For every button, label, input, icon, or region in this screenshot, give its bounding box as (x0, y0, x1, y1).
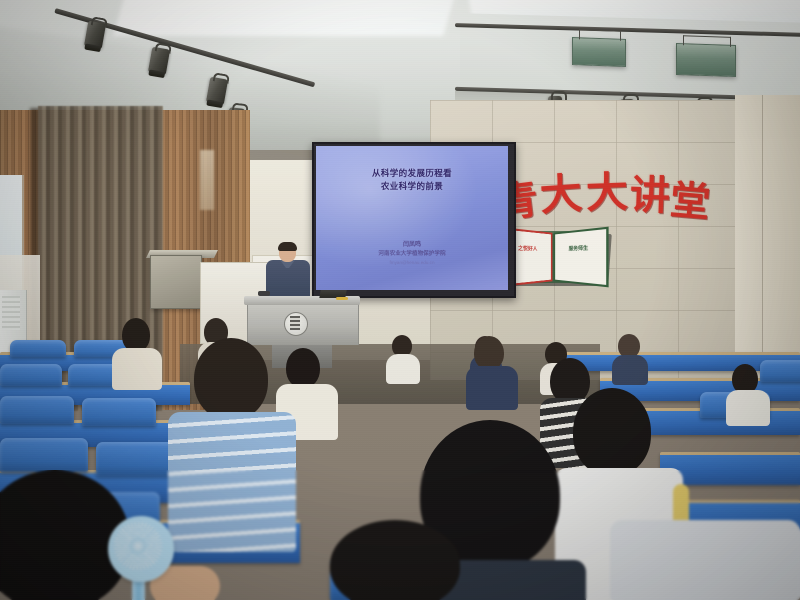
banner-char-4: 讲 (629, 175, 670, 216)
person-head (330, 520, 460, 600)
portable-fan[interactable] (108, 516, 168, 600)
book-right-text: 服务师生 (555, 245, 606, 253)
person-torso (612, 355, 648, 385)
marker-pen (336, 297, 348, 300)
wall-speaker (150, 255, 202, 309)
fan-hub (130, 538, 146, 554)
seat-back (0, 396, 74, 424)
air-conditioner-vent (2, 296, 20, 330)
person-torso (386, 354, 420, 384)
seat-back (82, 398, 156, 426)
slide-presenter-affiliation: 河南农业大学植物保护学院 (318, 250, 506, 259)
banner-char-3: 大 (585, 171, 628, 214)
slide-title-line-2: 农业科学的前景 (318, 181, 506, 194)
person-torso (168, 412, 296, 552)
lecture-hall-photo: 青 大 大 讲 堂 之悦好人 服务师生 从科学的发展历程看 农业科学的前景 闫凤… (0, 0, 800, 600)
wall-column-seam (762, 95, 763, 385)
presenter-hair (278, 242, 297, 251)
hanging-light-fixture (572, 37, 626, 67)
banner-char-2: 大 (539, 173, 584, 218)
seat-back (760, 360, 800, 382)
person-torso (726, 390, 770, 426)
seat-back (10, 340, 66, 357)
lectern-crest-inner (290, 316, 300, 330)
hanging-light-fixture (676, 43, 736, 77)
slide-title-line-1: 从科学的发展历程看 (318, 168, 506, 181)
open-book-emblem: 之悦好人 服务师生 (500, 228, 612, 290)
person-torso (466, 366, 518, 410)
person-head (474, 336, 504, 370)
slide-title-block: 从科学的发展历程看 农业科学的前景 (318, 168, 506, 194)
person-head (122, 318, 150, 352)
slide-presenter-name: 闫凤鸣 (318, 240, 506, 250)
book-page-right: 服务师生 (554, 227, 609, 288)
microphone (258, 291, 270, 296)
seat-back (0, 438, 88, 472)
ceiling-skylight-left (113, 0, 457, 36)
person-head (573, 388, 651, 476)
wall-column-right (735, 95, 800, 385)
slide-presenter-block: 闫凤鸣 河南农业大学植物保护学院 fmyan@henau.edu.cn (318, 240, 506, 266)
person-torso (610, 520, 800, 600)
person-torso (112, 348, 162, 390)
person-head (194, 338, 268, 420)
red-wall-banner: 青 大 大 讲 堂 (498, 168, 713, 230)
slide-presenter-email: fmyan@henau.edu.cn (318, 259, 506, 266)
seat-back (0, 364, 62, 386)
wall-light-strip (200, 150, 214, 210)
banner-char-5: 堂 (668, 180, 711, 223)
